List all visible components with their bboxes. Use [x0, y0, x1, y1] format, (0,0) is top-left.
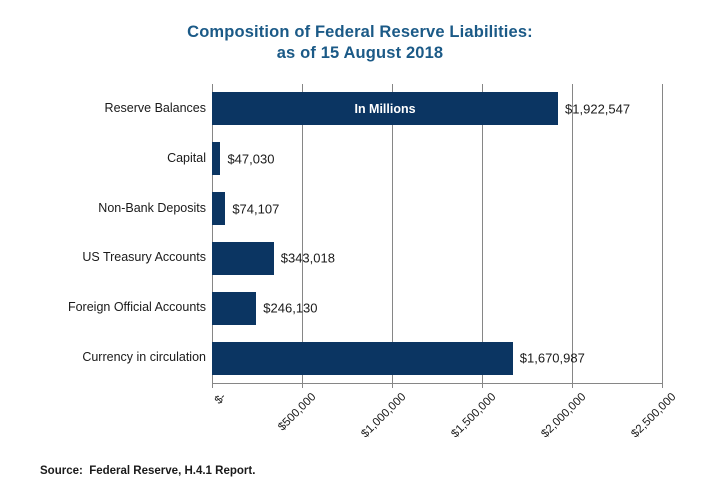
- bar-value-label: $246,130: [263, 301, 317, 316]
- gridline: [662, 84, 663, 383]
- category-label: Capital: [0, 151, 206, 165]
- chart-title-line-1: Composition of Federal Reserve Liabiliti…: [0, 22, 720, 43]
- bar: [212, 242, 274, 275]
- x-axis-tick-mark: [572, 383, 573, 388]
- x-axis-tick-mark: [662, 383, 663, 388]
- x-axis-tick-label: $2,000,000: [539, 391, 588, 440]
- x-axis-tick-label: $-: [213, 391, 229, 407]
- bar-value-label: $1,922,547: [565, 101, 630, 116]
- bars-layer: In Millions$1,922,547$47,030$74,107$343,…: [212, 84, 662, 383]
- x-axis-tick-labels: $-$500,000$1,000,000$1,500,000$2,000,000…: [0, 383, 720, 463]
- plot-area: In Millions$1,922,547$47,030$74,107$343,…: [212, 84, 662, 383]
- bar: [212, 142, 220, 175]
- bar-row: In Millions$1,922,547: [212, 92, 662, 125]
- chart-container: Composition of Federal Reserve Liabiliti…: [0, 0, 720, 500]
- bar-row: $343,018: [212, 242, 662, 275]
- x-axis-tick-label: $1,500,000: [449, 391, 498, 440]
- bar-row: $74,107: [212, 192, 662, 225]
- category-label: Foreign Official Accounts: [0, 300, 206, 314]
- category-label: US Treasury Accounts: [0, 250, 206, 264]
- x-axis-tick-label: $1,000,000: [359, 391, 408, 440]
- bar-value-label: $1,670,987: [520, 351, 585, 366]
- x-axis-tick-mark: [392, 383, 393, 388]
- bar-value-label: $47,030: [227, 151, 274, 166]
- x-axis-tick-label: $500,000: [276, 391, 318, 433]
- category-label: Currency in circulation: [0, 350, 206, 364]
- bar-value-label: $74,107: [232, 201, 279, 216]
- chart-title: Composition of Federal Reserve Liabiliti…: [0, 22, 720, 64]
- x-axis-tick-mark: [482, 383, 483, 388]
- bar: [212, 92, 558, 125]
- bar: [212, 342, 513, 375]
- bar-row: $1,670,987: [212, 342, 662, 375]
- source-note: Source: Federal Reserve, H.4.1 Report.: [40, 465, 255, 477]
- bar: [212, 192, 225, 225]
- y-axis-category-labels: Reserve BalancesCapitalNon-Bank Deposits…: [0, 84, 206, 383]
- bar-row: $246,130: [212, 292, 662, 325]
- bar-row: $47,030: [212, 142, 662, 175]
- category-label: Non-Bank Deposits: [0, 201, 206, 215]
- x-axis-tick-mark: [212, 383, 213, 388]
- chart-title-line-2: as of 15 August 2018: [0, 43, 720, 64]
- x-axis-tick-label: $2,500,000: [629, 391, 678, 440]
- bar: [212, 292, 256, 325]
- category-label: Reserve Balances: [0, 101, 206, 115]
- x-axis-tick-mark: [302, 383, 303, 388]
- bar-value-label: $343,018: [281, 251, 335, 266]
